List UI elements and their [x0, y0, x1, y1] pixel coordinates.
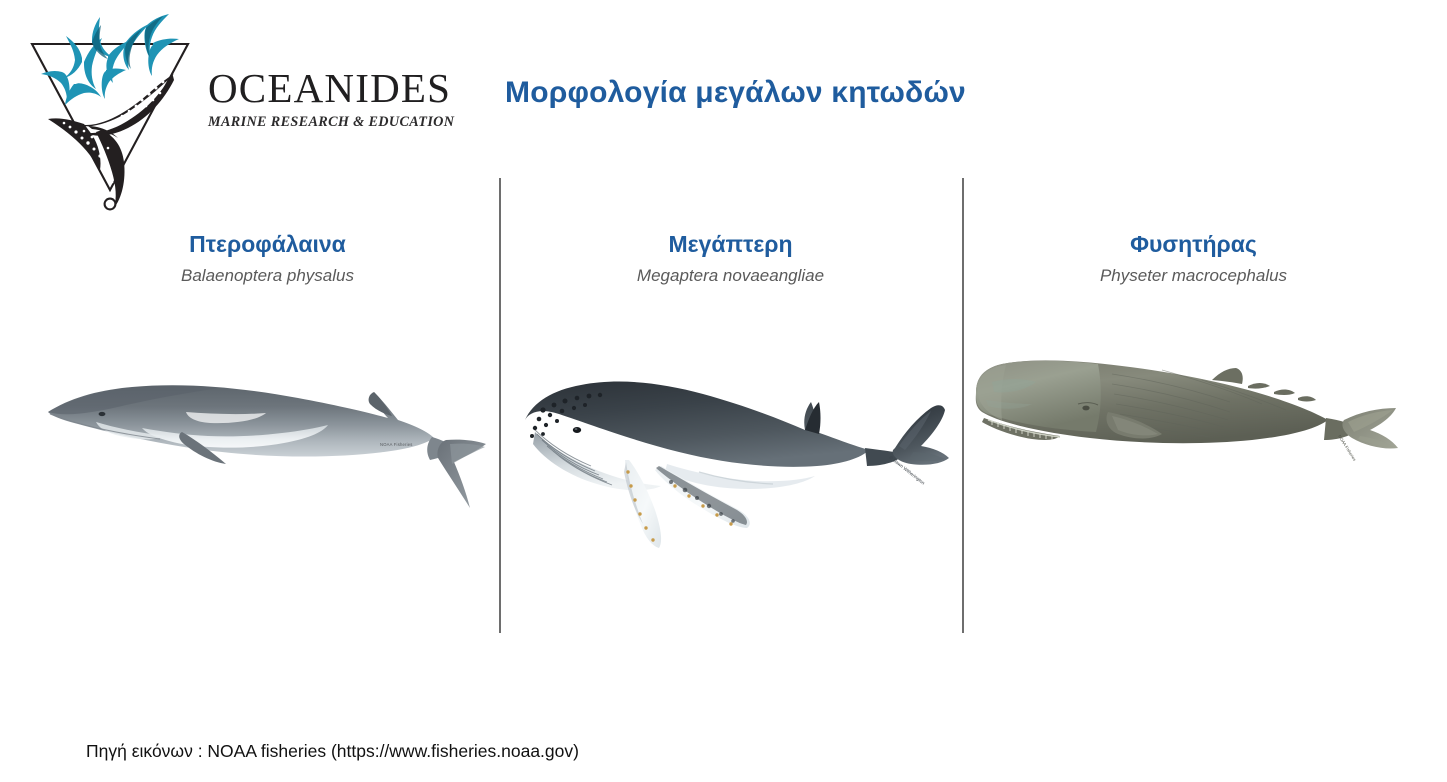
fin-whale-illustration: NOAA Fisheries [36, 340, 499, 600]
whale-tail-coral-triangle-icon [22, 12, 198, 212]
svg-text:NOAA Fisheries: NOAA Fisheries [380, 442, 413, 447]
logo-name: OCEANIDES [208, 68, 458, 109]
page-title: Μορφολογία μεγάλων κητωδών [505, 76, 966, 110]
species-column-humpback-whale: Μεγάπτερη Megaptera novaeangliae [499, 232, 962, 632]
species-common-name: Πτεροφάλαινα [36, 232, 499, 257]
species-scientific-name: Physeter macrocephalus [962, 267, 1425, 286]
sperm-whale-illustration: NOAA Fisheries [962, 340, 1425, 600]
species-scientific-name: Megaptera novaeangliae [499, 267, 962, 286]
species-column-sperm-whale: Φυσητήρας Physeter macrocephalus [962, 232, 1425, 632]
species-common-name: Φυσητήρας [962, 232, 1425, 257]
logo-wordmark: OCEANIDES MARINE RESEARCH & EDUCATION [208, 68, 458, 129]
species-scientific-name: Balaenoptera physalus [36, 267, 499, 286]
logo-tagline: MARINE RESEARCH & EDUCATION [208, 115, 458, 129]
humpback-whale-illustration: © Dawn Witherington [499, 340, 962, 600]
species-common-name: Μεγάπτερη [499, 232, 962, 257]
species-column-fin-whale: Πτεροφάλαινα Balaenoptera physalus [36, 232, 499, 632]
image-source-credit: Πηγή εικόνων : NOAA fisheries (https://w… [86, 741, 579, 762]
brand-logo: OCEANIDES MARINE RESEARCH & EDUCATION [22, 12, 452, 212]
